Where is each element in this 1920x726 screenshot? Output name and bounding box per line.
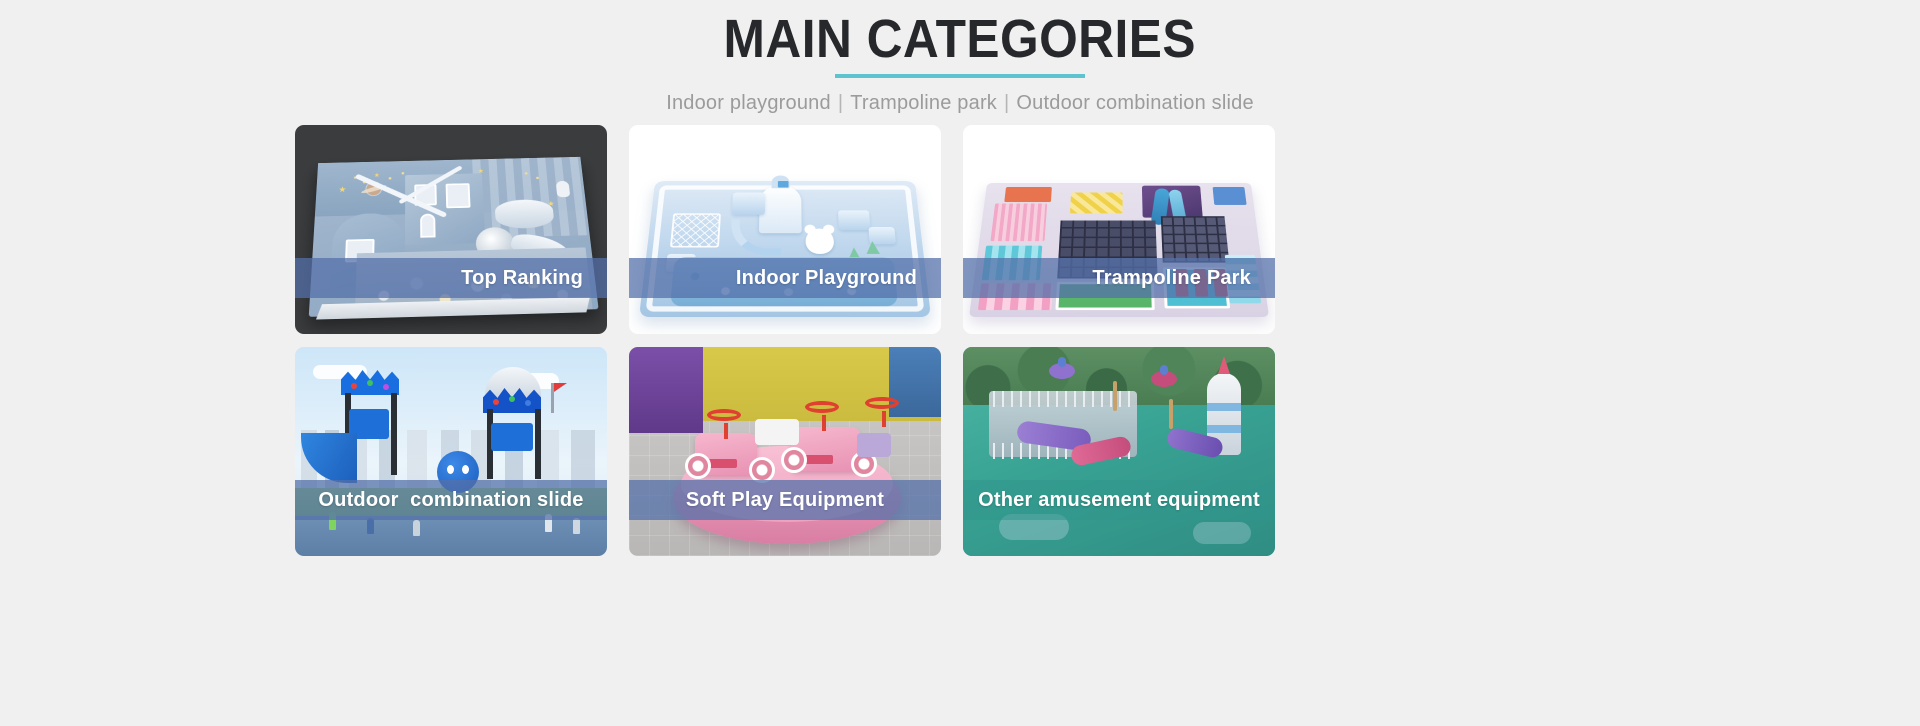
subtitle-separator-1: | xyxy=(831,92,850,114)
card-image-indoor-playground xyxy=(629,125,941,334)
card-image-other-amusement xyxy=(963,347,1275,556)
card-label-band: Top Ranking xyxy=(295,258,607,298)
card-image-trampoline-park xyxy=(963,125,1275,334)
card-label: Indoor Playground xyxy=(736,267,917,290)
category-card-other-amusement-equipment[interactable]: Other amusement equipment xyxy=(963,347,1275,556)
card-image-outdoor-slide xyxy=(295,347,607,556)
category-card-soft-play-equipment[interactable]: Soft Play Equipment xyxy=(629,347,941,556)
card-label: Soft Play Equipment xyxy=(686,489,884,512)
subtitle-part-3: Outdoor combination slide xyxy=(1016,92,1253,114)
card-label: Trampoline Park xyxy=(1092,267,1251,290)
card-label-band: Indoor Playground xyxy=(629,258,941,298)
subtitle-part-1: Indoor playground xyxy=(666,92,831,114)
title-underline xyxy=(835,74,1085,78)
card-image-soft-play xyxy=(629,347,941,556)
section-header: MAIN CATEGORIES Indoor playground|Trampo… xyxy=(0,0,1920,115)
card-label: Outdoor combination slide xyxy=(318,489,583,512)
main-categories-section: MAIN CATEGORIES Indoor playground|Trampo… xyxy=(0,0,1920,726)
category-card-indoor-playground[interactable]: Indoor Playground xyxy=(629,125,941,334)
subtitle-separator-2: | xyxy=(997,92,1016,114)
subtitle-part-2: Trampoline park xyxy=(850,92,997,114)
category-card-outdoor-combination-slide[interactable]: Outdoor combination slide xyxy=(295,347,607,556)
category-card-trampoline-park[interactable]: Trampoline Park xyxy=(963,125,1275,334)
card-label-band: Other amusement equipment xyxy=(963,480,1275,520)
card-label: Top Ranking xyxy=(461,267,583,290)
category-card-top-ranking[interactable]: Top Ranking xyxy=(295,125,607,334)
card-label: Other amusement equipment xyxy=(978,489,1260,512)
card-label-band: Outdoor combination slide xyxy=(295,480,607,520)
category-grid: Top Ranking xyxy=(295,125,1625,556)
page-title: MAIN CATEGORIES xyxy=(724,8,1196,70)
section-subtitle: Indoor playground|Trampoline park|Outdoo… xyxy=(0,92,1920,115)
card-label-band: Trampoline Park xyxy=(963,258,1275,298)
card-label-band: Soft Play Equipment xyxy=(629,480,941,520)
card-image-top-ranking xyxy=(295,125,607,334)
pool-shape-2 xyxy=(1193,522,1251,544)
